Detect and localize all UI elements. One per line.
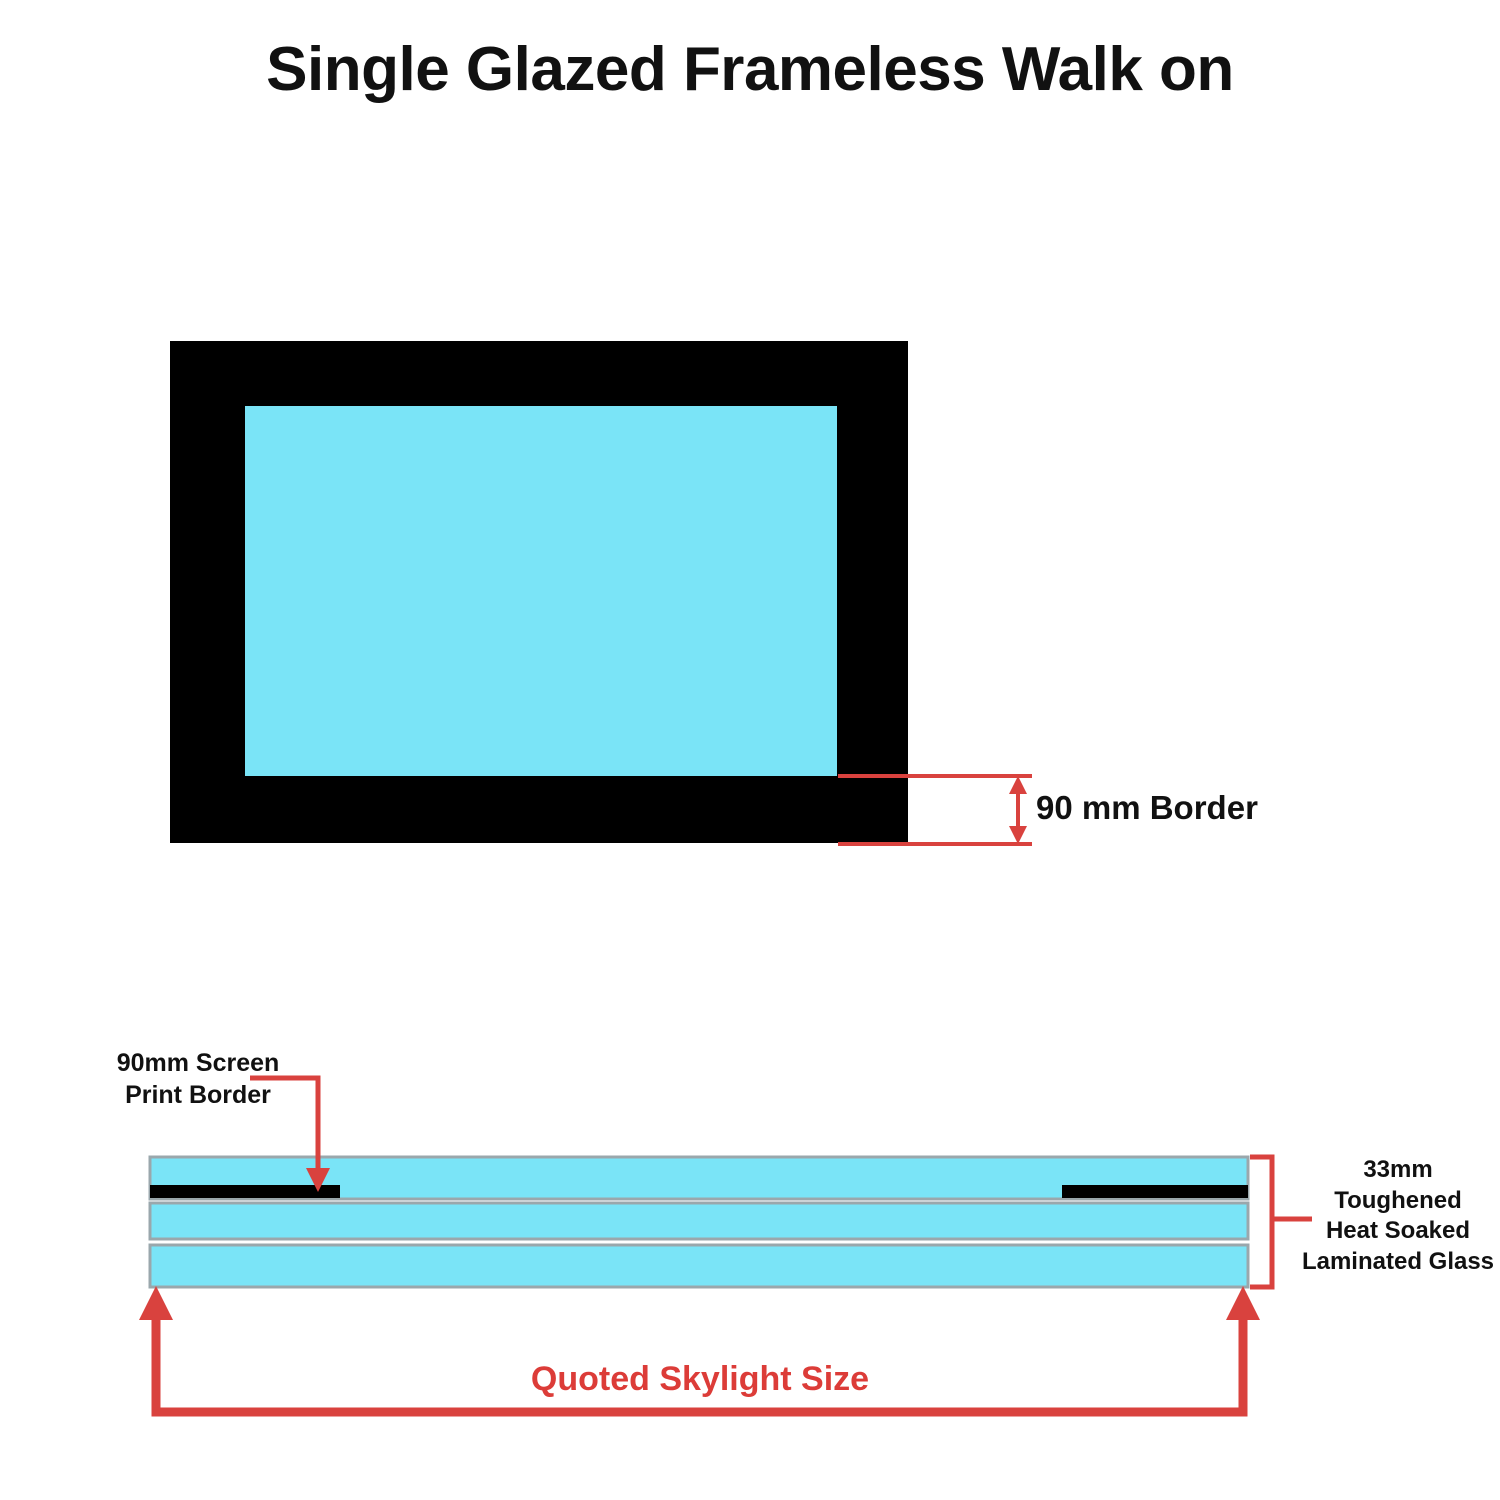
bracket-line xyxy=(1250,1157,1272,1287)
print-band-left xyxy=(150,1185,340,1198)
border-dimension-label: 90 mm Border xyxy=(1036,787,1258,829)
glass-spec-callout-label: 33mm Toughened Heat Soaked Laminated Gla… xyxy=(1300,1155,1496,1278)
screen-print-callout-label: 90mm Screen Print Border xyxy=(93,1047,303,1111)
quoted-size-label: Quoted Skylight Size xyxy=(0,1358,1400,1402)
technical-diagram xyxy=(0,0,1500,1500)
diagram-canvas: Single Glazed Frameless Walk on xyxy=(0,0,1500,1500)
middle-glass-pane xyxy=(150,1203,1248,1239)
dimension-arrowhead-up xyxy=(1009,776,1027,794)
overall-arrowhead-left xyxy=(139,1286,173,1320)
print-band-right xyxy=(1062,1185,1248,1198)
overall-arrowhead-right xyxy=(1226,1286,1260,1320)
top-plan-view xyxy=(170,341,908,843)
clear-glass-panel xyxy=(245,406,837,776)
bottom-glass-pane xyxy=(150,1245,1248,1287)
dimension-arrowhead-down xyxy=(1009,826,1027,844)
